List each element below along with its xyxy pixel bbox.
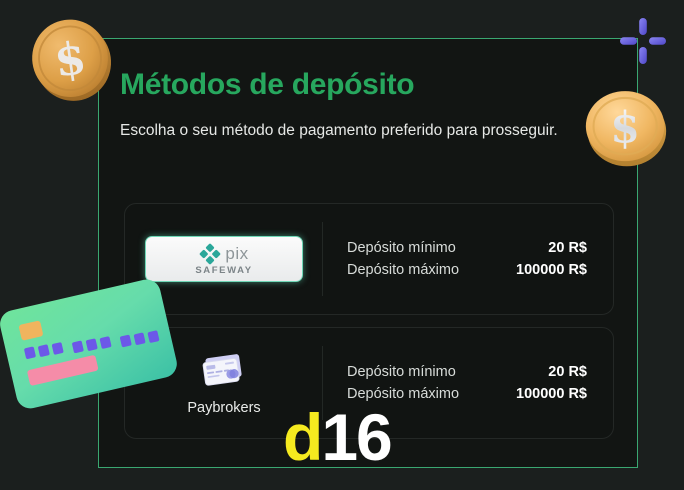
- pix-logo-cell: pix SAFEWAY: [125, 204, 323, 314]
- watermark-part-1: d: [283, 400, 321, 474]
- paybrokers-min-row: Depósito mínimo 20 R$: [347, 364, 587, 380]
- pix-min-label: Depósito mínimo: [347, 240, 456, 256]
- screenshot-root: Métodos de depósito Escolha o seu método…: [0, 0, 684, 490]
- watermark-text: d16: [283, 404, 391, 470]
- page-subtitle: Escolha o seu método de pagamento prefer…: [120, 118, 570, 144]
- pix-min-row: Depósito mínimo 20 R$: [347, 240, 587, 256]
- pix-min-value: 20 R$: [548, 240, 587, 256]
- pix-diamond-icon: [199, 243, 221, 265]
- payment-method-pix[interactable]: pix SAFEWAY Depósito mínimo 20 R$ Depósi…: [124, 203, 614, 315]
- paybrokers-amounts: Depósito mínimo 20 R$ Depósito máximo 10…: [323, 364, 613, 402]
- paybrokers-min-label: Depósito mínimo: [347, 364, 456, 380]
- pix-brand-sub: SAFEWAY: [195, 266, 252, 276]
- paybrokers-max-value: 100000 R$: [516, 386, 587, 402]
- page-title: Métodos de depósito: [120, 68, 414, 102]
- pix-max-row: Depósito máximo 100000 R$: [347, 262, 587, 278]
- pix-wordmark: pix: [225, 245, 248, 262]
- pix-safeway-button[interactable]: pix SAFEWAY: [145, 236, 303, 282]
- paybrokers-label: Paybrokers: [187, 400, 260, 416]
- paybrokers-min-value: 20 R$: [548, 364, 587, 380]
- pix-max-value: 100000 R$: [516, 262, 587, 278]
- svg-text:$: $: [51, 31, 89, 88]
- pix-max-label: Depósito máximo: [347, 262, 459, 278]
- paybrokers-logo-wrap[interactable]: Paybrokers: [187, 351, 260, 416]
- watermark-part-2: 16: [321, 400, 390, 474]
- pix-logo-mark: pix: [199, 243, 248, 265]
- paybrokers-card-icon: [200, 351, 248, 391]
- pix-amounts: Depósito mínimo 20 R$ Depósito máximo 10…: [323, 240, 613, 278]
